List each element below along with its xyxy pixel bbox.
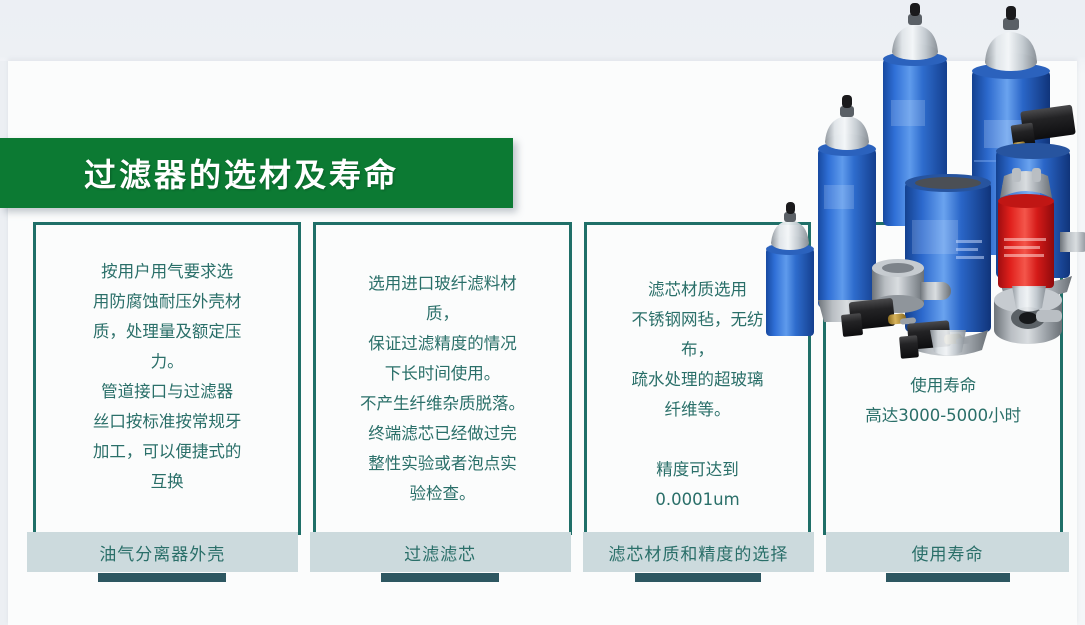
slide-canvas: 过滤器的选材及寿命 按用户用气要求选 用防腐蚀耐压外壳材 质，处理量及额定压 力…	[0, 0, 1085, 625]
footer-cell-oil-gas-separator-shell: 油气分离器外壳	[27, 532, 298, 572]
footer-label: 滤芯材质和精度的选择	[583, 532, 814, 572]
card-service-life: 使用寿命 高达3000-5000小时	[823, 222, 1063, 532]
footer-cell-service-life: 使用寿命	[826, 532, 1069, 572]
footer-label: 油气分离器外壳	[27, 532, 298, 572]
title-banner: 过滤器的选材及寿命	[0, 138, 513, 208]
footer-cell-filter-element: 过滤滤芯	[310, 532, 571, 572]
card-body-text: 选用进口玻纤滤料材 质， 保证过滤精度的情况 下长时间使用。 不产生纤维杂质脱落…	[316, 225, 568, 509]
card-footer-row: 油气分离器外壳 过滤滤芯 滤芯材质和精度的选择 使用寿命	[27, 532, 1069, 584]
footer-underline	[635, 573, 761, 582]
footer-underline	[886, 573, 1010, 582]
card-body-text: 滤芯材质选用 不锈钢网毡，无纺 布， 疏水处理的超玻璃 纤维等。 精度可达到 0…	[587, 225, 809, 515]
card-oil-gas-separator-shell: 按用户用气要求选 用防腐蚀耐压外壳材 质，处理量及额定压 力。 管道接口与过滤器…	[33, 222, 301, 532]
card-body-text: 按用户用气要求选 用防腐蚀耐压外壳材 质，处理量及额定压 力。 管道接口与过滤器…	[36, 225, 298, 497]
footer-label: 使用寿命	[826, 532, 1069, 572]
card-filter-element: 选用进口玻纤滤料材 质， 保证过滤精度的情况 下长时间使用。 不产生纤维杂质脱落…	[313, 222, 571, 532]
footer-underline	[98, 573, 226, 582]
feature-cards-row: 按用户用气要求选 用防腐蚀耐压外壳材 质，处理量及额定压 力。 管道接口与过滤器…	[33, 222, 1063, 532]
page-title: 过滤器的选材及寿命	[84, 150, 399, 196]
card-body-text: 使用寿命 高达3000-5000小时	[826, 225, 1060, 431]
card-material-precision: 滤芯材质选用 不锈钢网毡，无纺 布， 疏水处理的超玻璃 纤维等。 精度可达到 0…	[584, 222, 812, 532]
footer-label: 过滤滤芯	[310, 532, 571, 572]
footer-underline	[381, 573, 499, 582]
footer-cell-material-precision: 滤芯材质和精度的选择	[583, 532, 814, 572]
